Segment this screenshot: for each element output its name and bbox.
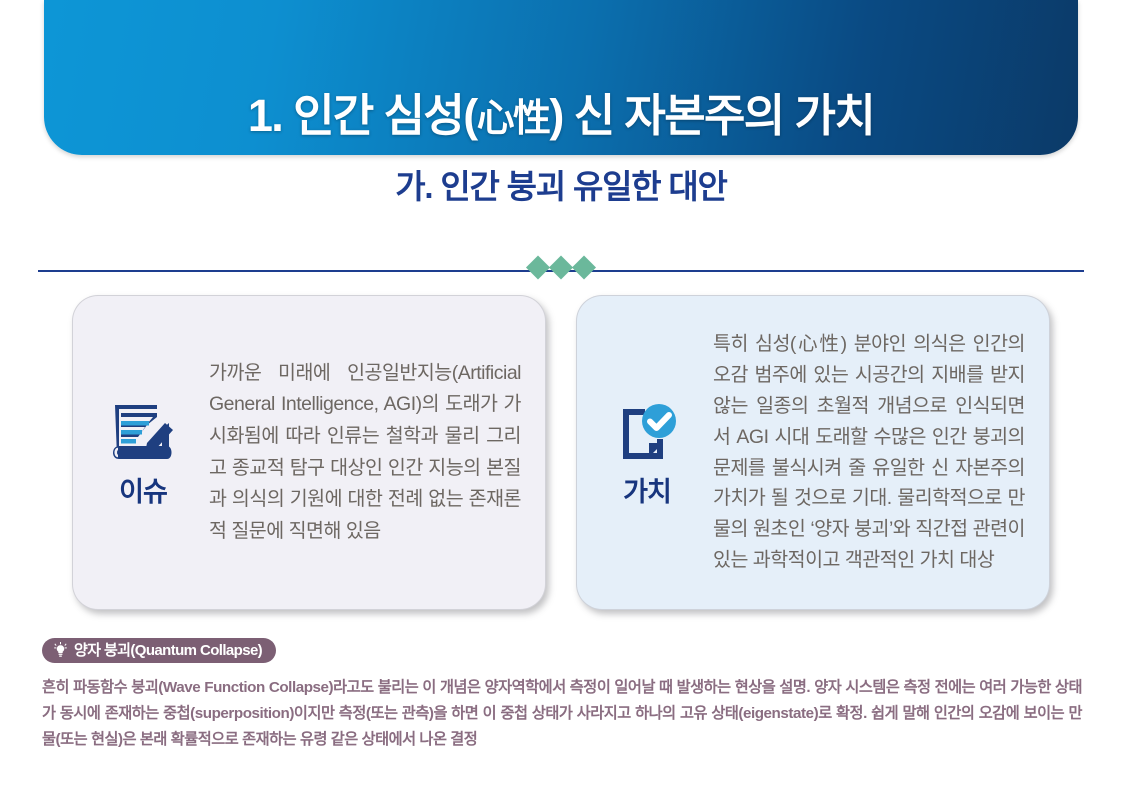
footer-badge-label: 양자 붕괴(Quantum Collapse) [74,643,262,658]
subtitle-container: 가. 인간 붕괴 유일한 대안 [0,168,1122,206]
card-issue-body: 가까운 미래에 인공일반지능(Artificial General Intell… [209,358,521,547]
section-subtitle: 가. 인간 붕괴 유일한 대안 [0,168,1122,206]
card-issue: 이슈 가까운 미래에 인공일반지능(Artificial General Int… [72,295,546,610]
diamond-icon [549,255,573,279]
card-value: 가치 특히 심성(心性) 분야인 의식은 인간의 오감 범주에 있는 시공간의 … [576,295,1050,610]
footer-body: 흔히 파동함수 붕괴(Wave Function Collapse)라고도 불리… [42,675,1082,753]
diamond-icon [526,255,550,279]
page-title-prefix: 1. 인간 심성( [248,90,477,141]
page-title-hanja: 心性 [477,98,550,140]
content-cards: 이슈 가까운 미래에 인공일반지능(Artificial General Int… [72,295,1050,610]
page-title-suffix: ) 신 자본주의 가치 [549,90,874,141]
footer-badge: 양자 붕괴(Quantum Collapse) [42,638,276,663]
section-divider [38,259,1084,283]
document-check-icon [611,399,683,475]
lightbulb-icon [53,642,68,658]
divider-diamond-group [530,259,593,276]
card-issue-iconbox: 이슈 [91,399,195,506]
header-banner: 1. 인간 심성(心性) 신 자본주의 가치 [44,0,1078,155]
card-value-iconbox: 가치 [595,399,699,506]
card-value-body: 특히 심성(心性) 분야인 의식은 인간의 오감 범주에 있는 시공간의 지배를… [713,329,1025,575]
card-issue-label: 이슈 [119,479,167,506]
footer-note: 양자 붕괴(Quantum Collapse) 흔히 파동함수 붕괴(Wave … [42,638,1082,753]
card-value-label: 가치 [623,479,671,506]
document-pencil-icon [107,399,179,475]
page-title: 1. 인간 심성(心性) 신 자본주의 가치 [248,93,874,138]
diamond-icon [572,255,596,279]
